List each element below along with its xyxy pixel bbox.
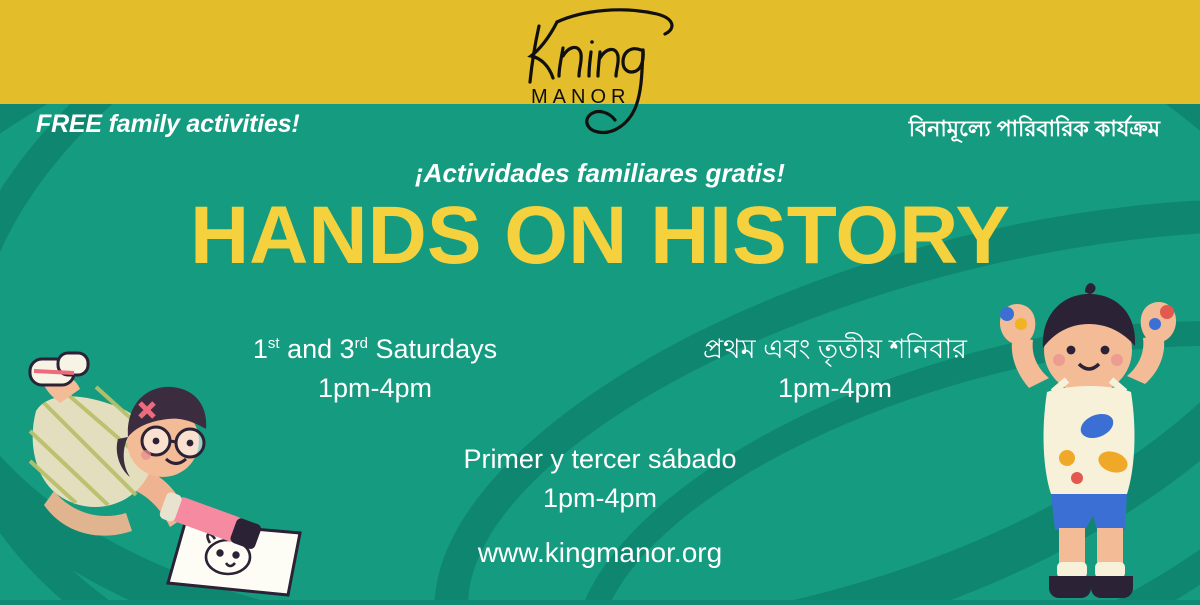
days-ordinal-1: st bbox=[268, 335, 280, 352]
free-activities-bn: বিনামূল্যে পারিবারিক কার্যক্রম bbox=[909, 112, 1160, 149]
days-prefix: 1 bbox=[253, 334, 268, 364]
page-title: HANDS ON HISTORY bbox=[0, 195, 1200, 277]
schedule-bengali: প্রথম এবং তৃতীয় শনিবার 1pm-4pm bbox=[630, 330, 1040, 408]
days-suffix: Saturdays bbox=[368, 334, 497, 364]
schedule-time-es: 1pm-4pm bbox=[0, 479, 1200, 518]
schedule-days-en: 1st and 3rd Saturdays bbox=[170, 330, 580, 369]
schedule-time-bn: 1pm-4pm bbox=[630, 369, 1040, 408]
schedule-english: 1st and 3rd Saturdays 1pm-4pm bbox=[170, 330, 580, 408]
king-manor-logo: MANOR bbox=[505, 4, 705, 149]
days-mid: and 3 bbox=[280, 334, 355, 364]
schedule-days-bn: প্রথম এবং তৃতীয় শনিবার bbox=[630, 330, 1040, 369]
schedule-days-es: Primer y tercer sábado bbox=[0, 440, 1200, 479]
schedule-spanish: Primer y tercer sábado 1pm-4pm bbox=[0, 440, 1200, 518]
free-activities-es: ¡Actividades familiares gratis! bbox=[0, 158, 1200, 189]
days-ordinal-2: rd bbox=[355, 335, 368, 352]
free-activities-en: FREE family activities! bbox=[36, 110, 300, 139]
logo-script-mark bbox=[505, 4, 705, 149]
logo-subtitle: MANOR bbox=[531, 86, 630, 109]
schedule-time-en: 1pm-4pm bbox=[170, 369, 580, 408]
website-url[interactable]: www.kingmanor.org bbox=[0, 537, 1200, 569]
